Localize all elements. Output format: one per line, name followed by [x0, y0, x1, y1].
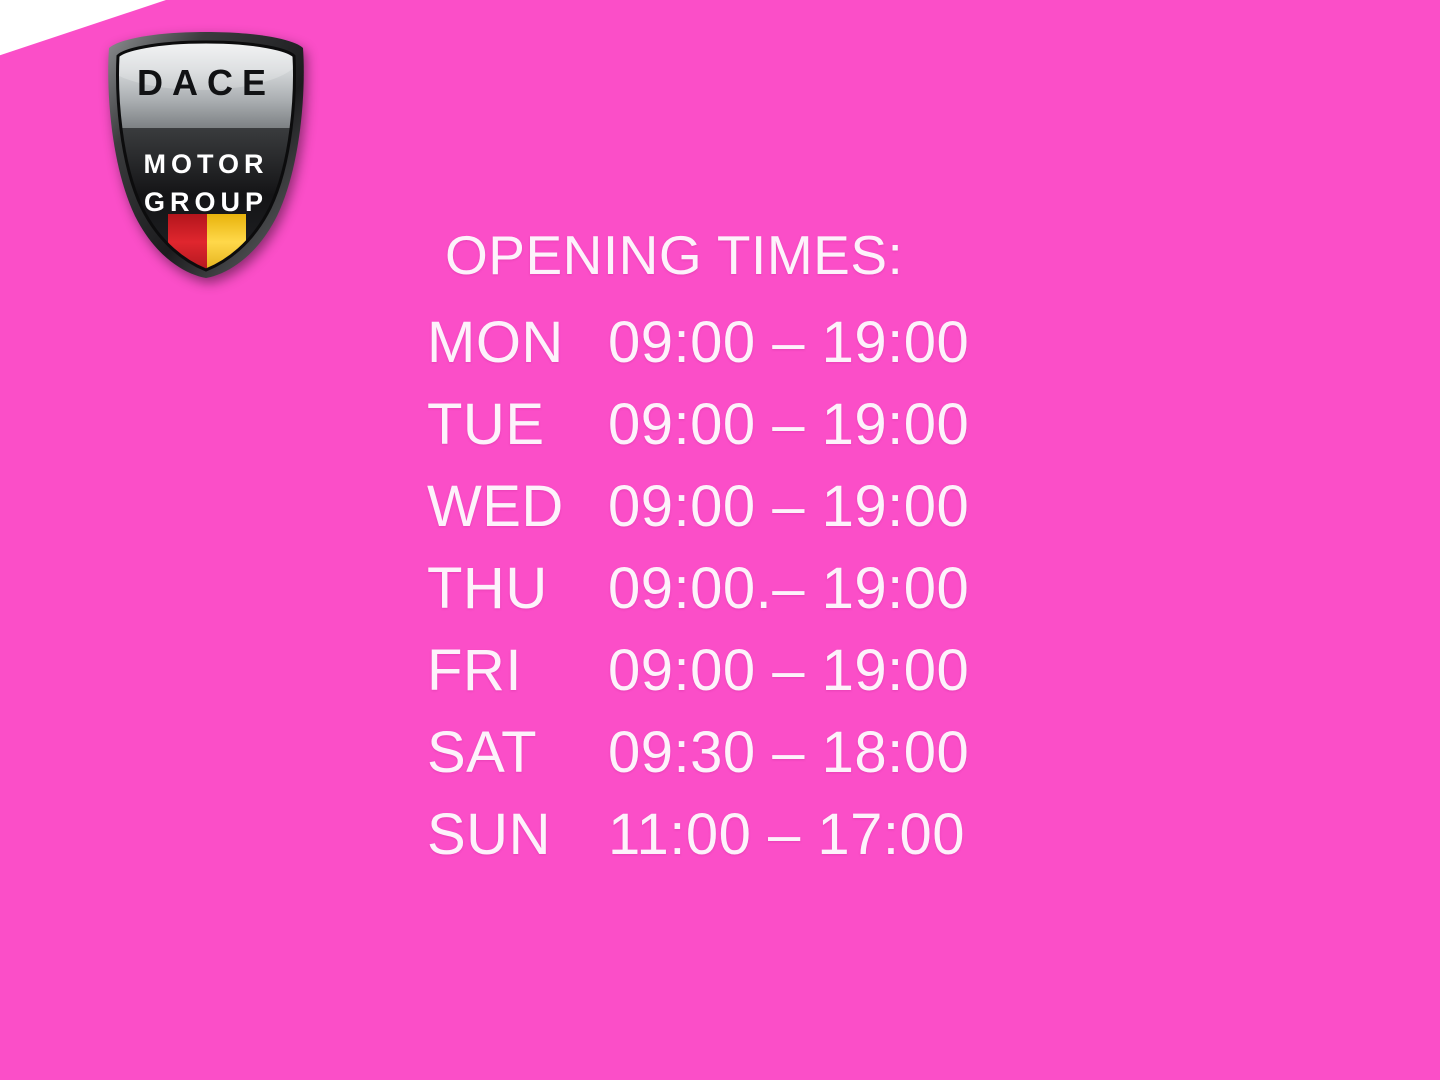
hours-value: 09:30 – 18:00 — [608, 719, 1087, 786]
hours-value: 09:00 – 19:00 — [608, 637, 1087, 704]
table-row: WED 09:00 – 19:00 — [427, 473, 1087, 555]
day-label: WED — [427, 473, 608, 540]
day-label: TUE — [427, 391, 608, 458]
table-row: FRI 09:00 – 19:00 — [427, 637, 1087, 719]
table-row: SUN 11:00 – 17:00 — [427, 801, 1087, 883]
hours-value: 09:00 – 19:00 — [608, 391, 1087, 458]
day-label: SUN — [427, 801, 608, 868]
shield-badge-icon: DACE MOTOR GROUP — [82, 28, 330, 278]
table-row: THU 09:00.– 19:00 — [427, 555, 1087, 637]
hours-value: 09:00 – 19:00 — [608, 309, 1087, 376]
opening-times-block: OPENING TIMES: MON 09:00 – 19:00 TUE 09:… — [427, 228, 1087, 883]
logo-text-group: GROUP — [144, 187, 268, 217]
hours-value: 09:00 – 19:00 — [608, 473, 1087, 540]
day-label: THU — [427, 555, 608, 622]
opening-times-poster: DACE MOTOR GROUP OPENING TIMES: MON 09:0… — [0, 0, 1440, 1080]
table-row: SAT 09:30 – 18:00 — [427, 719, 1087, 801]
day-label: FRI — [427, 637, 608, 704]
opening-times-heading: OPENING TIMES: — [427, 228, 1087, 283]
hours-value: 09:00.– 19:00 — [608, 555, 1087, 622]
table-row: MON 09:00 – 19:00 — [427, 309, 1087, 391]
logo-text-motor: MOTOR — [144, 149, 269, 179]
day-label: SAT — [427, 719, 608, 786]
day-label: MON — [427, 309, 608, 376]
hours-value: 11:00 – 17:00 — [608, 801, 1087, 868]
logo-text-dace: DACE — [137, 62, 275, 103]
table-row: TUE 09:00 – 19:00 — [427, 391, 1087, 473]
dace-motor-group-logo: DACE MOTOR GROUP — [82, 28, 330, 278]
